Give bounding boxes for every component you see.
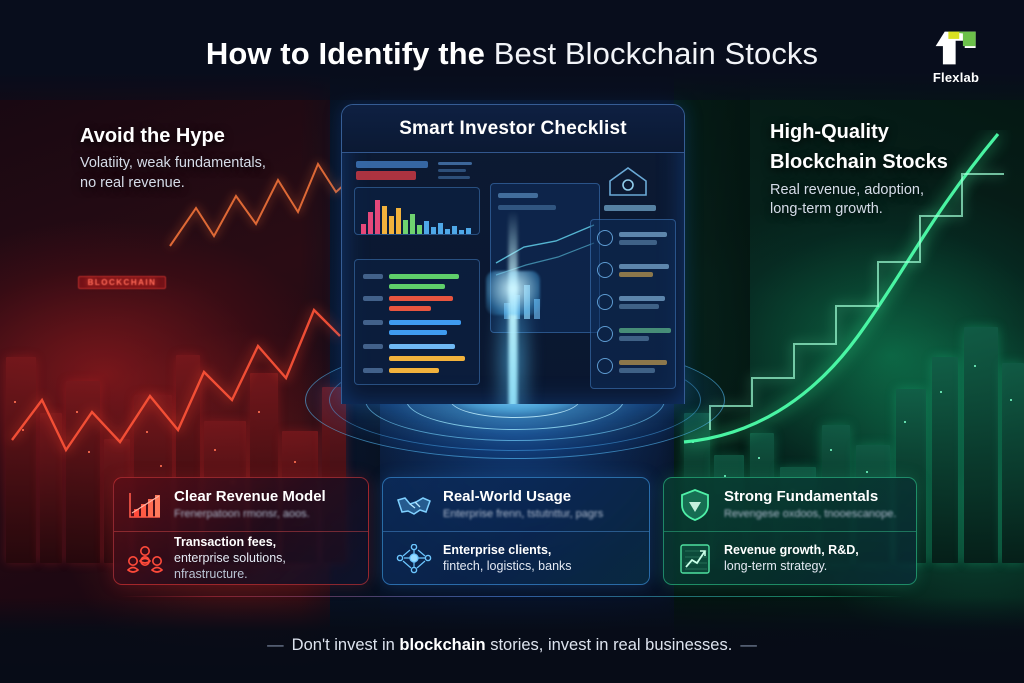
handshake-icon [395,488,433,522]
bar-chart-growth-icon [126,488,164,522]
card-line-1: Revenue growth, R&D, [724,543,859,559]
card-line-1: Enterprise clients, [443,543,572,559]
card-title: Real-World Usage [443,488,603,505]
card-real-world-usage[interactable]: Real-World Usage Enterprise frenn, tstut… [382,477,650,585]
widget-tag [356,161,428,168]
card-title: Strong Fundamentals [724,488,896,505]
panel-header: Smart Investor Checklist [342,105,684,153]
card-row-top[interactable]: Real-World Usage Enterprise frenn, tstut… [383,478,649,532]
widget-heading-text [604,205,656,211]
card-text: Clear Revenue Model Frenerpatoon rmonsr,… [174,488,326,520]
widget-home-icon [606,165,650,199]
page-title-bold: How to Identify the [206,36,485,71]
card-subtitle: Revengese oxdoos, tnooescanope. [724,508,896,521]
left-panel-body-line1: Volatiity, weak fundamentals, [80,154,330,173]
footer-dash-right: — [732,636,765,654]
widget-checklist [590,219,676,389]
card-text: Revenue growth, R&D, long-term strategy. [724,543,859,575]
widget-tag-alert [356,171,416,180]
panel-title: Smart Investor Checklist [399,118,627,140]
widget-tag [438,162,472,165]
page-title-regular: Best Blockchain Stocks [494,36,818,71]
card-text: Strong Fundamentals Revengese oxdoos, tn… [724,488,896,520]
card-line-2: long-term strategy. [724,559,859,575]
footer-dash-left: — [259,636,292,654]
card-row-bottom[interactable]: Transaction fees, enterprise solutions, … [114,532,368,585]
card-row-bottom[interactable]: Enterprise clients, fintech, logistics, … [383,532,649,585]
widget-tag [438,176,470,179]
footer-text-bold: blockchain [399,636,485,654]
widget-legend-list [354,259,480,385]
widget-tag [498,205,556,210]
line-chart-up-icon [676,542,714,576]
right-panel-body-line1: Real revenue, adoption, [770,181,1015,200]
card-text: Real-World Usage Enterprise frenn, tstut… [443,488,603,520]
card-row-bottom[interactable]: Revenue growth, R&D, long-term strategy. [664,532,916,585]
shield-check-icon [676,488,714,522]
card-text: Transaction fees, enterprise solutions, … [174,535,286,582]
right-panel-body-line2: long-term growth. [770,200,1015,219]
left-panel-body-line2: no real revenue. [80,174,330,193]
footer-tagline: —Don't invest in blockchain stories, inv… [0,636,1024,655]
card-subtitle: Frenerpatoon rmonsr, aoos. [174,508,326,521]
brand-logo[interactable]: Flexlab [912,28,1000,85]
widget-histogram [354,187,480,235]
smart-investor-checklist-panel: Smart Investor Checklist [341,104,685,404]
right-panel-heading-line1: High-Quality [770,120,1015,144]
card-line-2: fintech, logistics, banks [443,559,572,575]
footer-divider-line [120,596,904,597]
left-panel-text: Avoid the Hype Volatiity, weak fundament… [80,124,330,193]
logo-wordmark: Flexlab [912,70,1000,85]
holo-cube [486,271,540,315]
widget-tag [498,193,538,198]
card-row-top[interactable]: Clear Revenue Model Frenerpatoon rmonsr,… [114,478,368,532]
page-title: How to Identify the Best Blockchain Stoc… [0,36,1024,72]
right-panel-heading-line2: Blockchain Stocks [770,150,1015,174]
card-row-top[interactable]: Strong Fundamentals Revengese oxdoos, tn… [664,478,916,532]
footer-text-before: Don't invest in [292,636,395,654]
card-line-1: Transaction fees, [174,535,286,551]
right-panel-text: High-Quality Blockchain Stocks Real reve… [770,120,1015,220]
left-panel-heading: Avoid the Hype [80,124,330,148]
card-strong-fundamentals[interactable]: Strong Fundamentals Revengese oxdoos, tn… [663,477,917,585]
card-subtitle: Enterprise frenn, tstutnttur, pagrs [443,508,603,521]
widget-tag [438,169,466,172]
card-title: Clear Revenue Model [174,488,326,505]
user-group-icon [126,542,164,576]
flexlab-arrow-mark [932,28,979,68]
feature-cards-row: Clear Revenue Model Frenerpatoon rmonsr,… [0,477,1024,587]
card-line-2: enterprise solutions, [174,551,286,567]
card-line-3: nfrastructure. [174,567,286,583]
card-clear-revenue-model[interactable]: Clear Revenue Model Frenerpatoon rmonsr,… [113,477,369,585]
infographic-canvas: BLOCKCHAIN [0,0,1024,683]
panel-dashboard-body [342,153,684,404]
card-text: Enterprise clients, fintech, logistics, … [443,543,572,575]
network-nodes-icon [395,542,433,576]
footer-text-after: stories, invest in real businesses. [490,636,732,654]
